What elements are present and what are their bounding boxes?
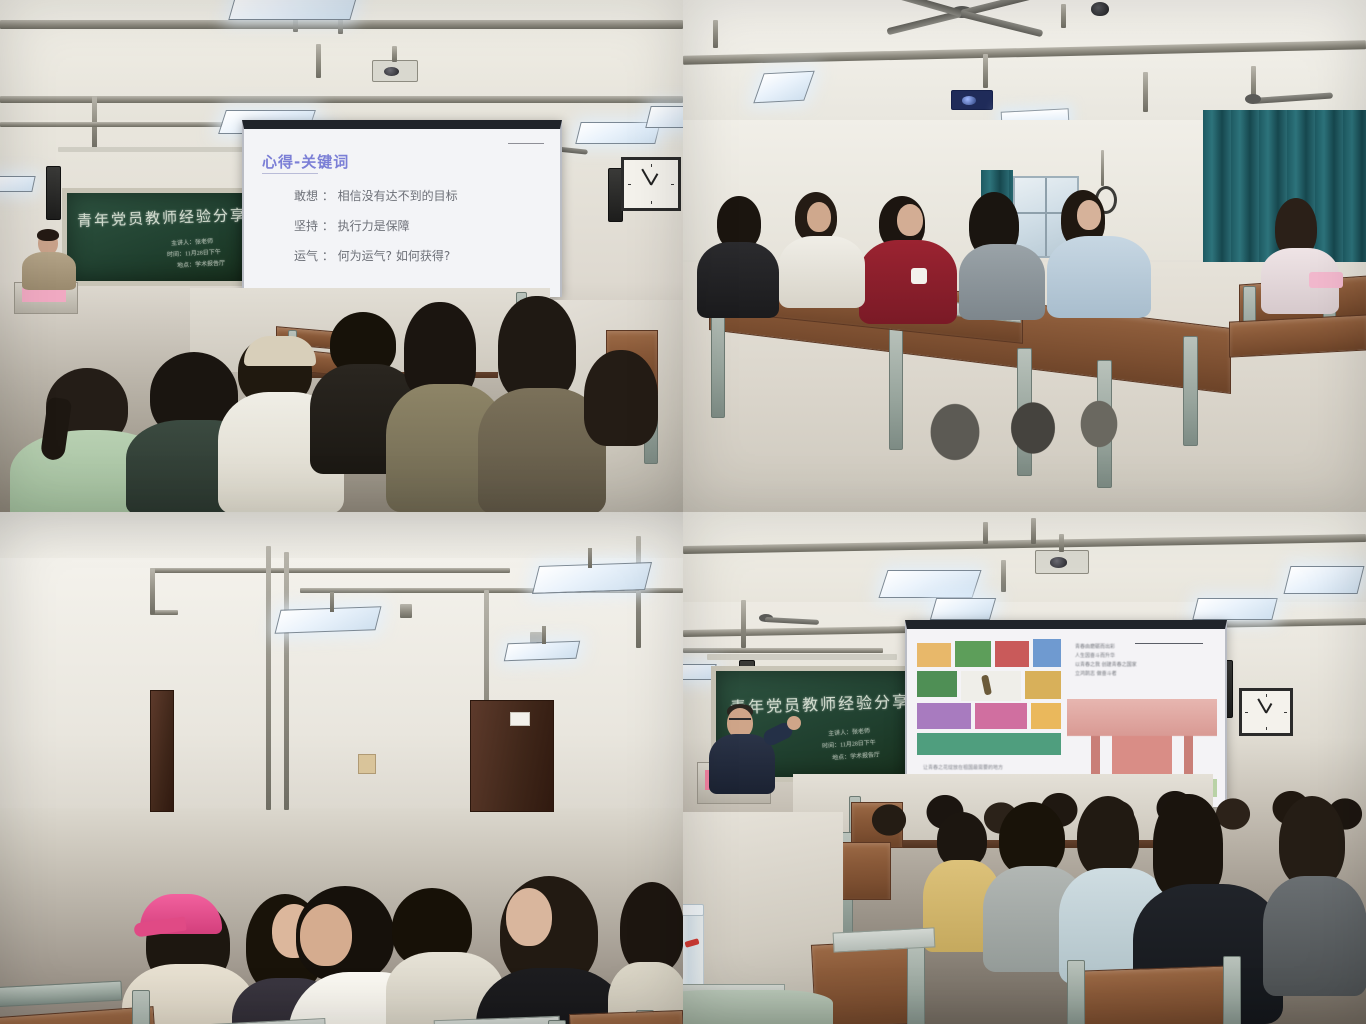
collage-cell-9 <box>975 703 1027 729</box>
student-red-hoodie-body <box>859 240 957 324</box>
blackboard-rail <box>58 147 246 152</box>
blackboard-subtext-1: 主讲人：张老师 <box>171 236 213 247</box>
ceiling-fan-blade-br-left <box>765 617 819 625</box>
suspended-light-bl-2 <box>532 562 652 594</box>
ceiling-projector-tr <box>951 90 993 110</box>
blackboard-br-subtext-2: 时间：11月28日下午 <box>822 737 876 750</box>
panel-light-br-4 <box>1284 566 1365 594</box>
ceiling-surface-br <box>683 512 1366 602</box>
clock-mark-9 <box>628 184 631 185</box>
wall-clock <box>621 157 681 211</box>
collage-cell-6 <box>961 671 1021 701</box>
photo-top-left: 青年党员教师经验分享 主讲人：张老师 时间：11月28日下午 地点：学术报告厅 … <box>0 0 683 512</box>
audience-head-right <box>498 296 576 400</box>
collage-cell-10 <box>1031 703 1061 729</box>
wall-pipe-vertical-4 <box>636 536 641 648</box>
student-legs-shadow <box>913 380 1133 478</box>
student-br-right-hair <box>1279 796 1345 888</box>
collage-cell-5 <box>917 671 957 697</box>
hanger-tr-3 <box>983 54 988 88</box>
clock-br-mark-6 <box>1266 727 1267 730</box>
collage-cell-1 <box>917 643 951 667</box>
wall-clock-br <box>1239 688 1293 736</box>
wall-conduit-br <box>683 648 883 653</box>
projector-lens-br <box>1050 557 1068 568</box>
collage-cell-7 <box>1025 671 1061 699</box>
panel-light-br-2 <box>930 598 996 620</box>
front-desk-post-left <box>132 990 150 1024</box>
ceiling-projector <box>372 60 418 82</box>
student-br-lightblue-hair <box>1077 796 1139 878</box>
water-bottle[interactable] <box>683 910 704 992</box>
black-jacket-woman-face <box>506 888 552 946</box>
front-desk-br-post-2 <box>1067 960 1085 1024</box>
clock-br-mark-12 <box>1266 694 1267 697</box>
student-br-right-body <box>1263 876 1366 996</box>
slide-body-text: 青春由磨砺而出彩 人生因奋斗而升华 以青春之我 创建青春之国家 立鸿鹄志 做奋斗… <box>1075 643 1205 679</box>
security-camera <box>1091 2 1109 16</box>
blackboard-rail-br <box>707 654 897 660</box>
hanger-br-3 <box>1001 560 1006 592</box>
slide-accent-rule <box>508 143 544 144</box>
wall-hook-cable <box>1101 150 1104 186</box>
front-desk-post-right <box>548 1020 566 1024</box>
audience-beige-cap <box>244 336 316 366</box>
student-br-grey-hair <box>999 802 1065 876</box>
water-bottle-cap <box>683 904 704 916</box>
student-red-hoodie-face <box>897 204 923 236</box>
clock-mark-6 <box>651 201 652 204</box>
clock-br-mark-9 <box>1245 712 1248 713</box>
photo-top-right <box>683 0 1366 512</box>
student-white-shirt-body <box>779 236 865 308</box>
projector-mount <box>392 46 397 62</box>
light-hanger-bl-2 <box>588 548 592 568</box>
slide-title-rule <box>262 173 318 174</box>
slide-line-2: 坚持 ： 执行力是保障 <box>294 217 410 234</box>
front-desk-br-post-1 <box>907 938 925 1024</box>
wall-pipe-bracket-1 <box>400 604 412 618</box>
ceiling-panel-light-1 <box>228 0 357 20</box>
photo-bottom-right: 青年党员教师经验分享 主讲人：张老师 时间：11月28日下午 地点：学术报告厅 … <box>683 512 1366 1024</box>
student-br-front-seated <box>683 990 833 1024</box>
door-sign-plate <box>510 712 530 726</box>
panel-light-br-3 <box>1192 598 1277 620</box>
hanger-br-4 <box>741 600 746 648</box>
ceiling-hanger-c <box>316 44 321 78</box>
audience-head-far-right <box>584 350 658 446</box>
wall-pipe-horizontal-1 <box>150 568 510 573</box>
ceiling-surface-bl <box>0 512 683 558</box>
ceiling-beam-lower <box>0 96 683 103</box>
ceiling-fan-hub-tr-right <box>1245 94 1261 104</box>
light-hanger-bl-3 <box>542 626 546 644</box>
panel-light-br-1 <box>878 570 981 598</box>
red-hoodie-logo <box>911 268 927 284</box>
pink-item-on-desk <box>1309 272 1343 288</box>
blackboard-headline: 青年党员教师经验分享 <box>77 204 248 231</box>
clock-minute-hand <box>641 169 651 185</box>
collage-cell-2 <box>955 641 991 667</box>
front-desk-br-post-3 <box>1223 956 1241 1024</box>
photo-bottom-left <box>0 512 683 1024</box>
clock-br-mark-3 <box>1284 712 1287 713</box>
collage-cell-8 <box>917 703 971 729</box>
lecturer-br-glasses <box>729 718 751 725</box>
collage-cell-3 <box>995 641 1029 667</box>
front-desk-br-panel-2 <box>1080 965 1234 1024</box>
wall-speaker-left <box>46 166 61 220</box>
blackboard-subtext-2: 时间：11月28日下午 <box>167 247 221 259</box>
projector-lens-tr <box>962 96 976 105</box>
clock-br-minute-hand <box>1257 699 1266 714</box>
blackboard-br-headline: 青年党员教师经验分享 <box>730 688 911 718</box>
far-right-student-hair <box>620 882 683 974</box>
lecturer-hair <box>37 229 59 241</box>
white-sweater-student-face <box>300 904 352 966</box>
hanger-br-1 <box>983 522 988 544</box>
slide-title: 心得-关键词 <box>262 151 349 172</box>
hanger-tr-2 <box>1061 4 1066 28</box>
wall-pipe-offset-drop <box>150 568 155 614</box>
lecturer-br-hand <box>787 716 801 730</box>
hanger-tr-4 <box>1143 72 1148 112</box>
desk-bench-right-near <box>1229 314 1366 357</box>
ceiling-projector-br <box>1035 550 1089 574</box>
student-light-blue-body <box>1047 236 1151 318</box>
hanger-br-2 <box>1031 518 1036 544</box>
collage-cell-4 <box>1033 639 1061 667</box>
slide-br-rule <box>1135 643 1203 644</box>
student-white-shirt-face <box>807 202 831 232</box>
light-hanger-bl-1 <box>330 592 334 612</box>
student-dark-left-body <box>697 242 779 318</box>
slide-line-1: 敢想 ： 相信没有达不到的目标 <box>294 187 458 204</box>
ceiling-panel-light-6 <box>0 176 36 192</box>
hanger-tr-1 <box>713 20 718 48</box>
clock-mark-12 <box>651 164 652 167</box>
desk-bench-front-post-5 <box>1183 336 1198 446</box>
projector-mount-br <box>1059 534 1064 552</box>
blackboard-br-subtext-1: 主讲人：张老师 <box>828 726 871 738</box>
suspended-light-bl-1 <box>275 606 382 633</box>
student-grey-body <box>959 244 1045 320</box>
lecturer-br-body <box>709 734 775 794</box>
desk-bench-front-post-2 <box>889 326 903 450</box>
projector-lens <box>384 67 399 77</box>
ceiling-panel-light-5 <box>645 106 683 128</box>
student-br-ponytail-hair <box>1153 794 1223 898</box>
student-light-blue-face <box>1077 200 1101 230</box>
front-desk-frame-left <box>0 981 122 1008</box>
clock-mark-3 <box>671 184 674 185</box>
wall-conduit-run <box>0 122 240 127</box>
photo-grid: 青年党员教师经验分享 主讲人：张老师 时间：11月28日下午 地点：学术报告厅 … <box>0 0 1366 1024</box>
